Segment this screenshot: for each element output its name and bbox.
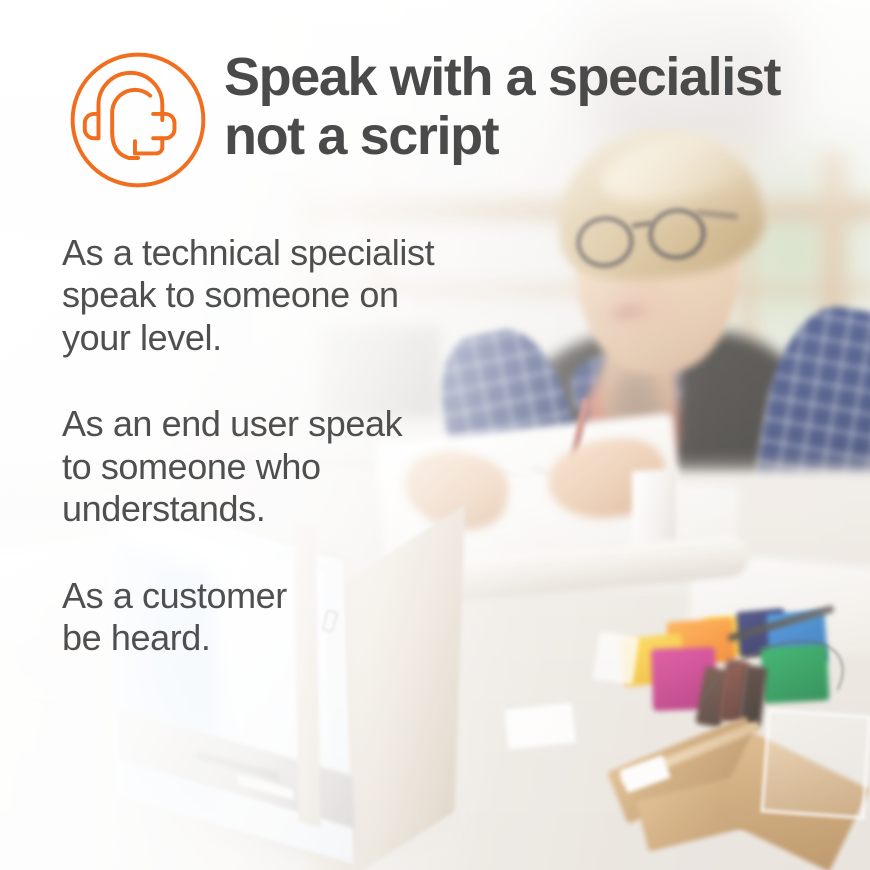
body-paragraph-technical-specialist: As a technical specialist speak to someo… — [62, 232, 482, 359]
body-line: speak to someone on — [62, 274, 482, 316]
icon-earcup-left — [85, 114, 99, 138]
icon-microphone-boom — [135, 138, 162, 153]
body-line: As an end user speak — [62, 403, 482, 445]
headline-line-2: not a script — [224, 107, 844, 166]
body-paragraph-end-user: As an end user speak to someone who unde… — [62, 403, 482, 530]
body-line: your level. — [62, 317, 482, 359]
body-line: understands. — [62, 488, 482, 530]
headline-line-1: Speak with a specialist — [224, 48, 844, 107]
body-line: be heard. — [62, 617, 482, 659]
body-copy: As a technical specialist speak to someo… — [62, 232, 482, 660]
poster-content: Speak with a specialist not a script As … — [0, 0, 870, 870]
body-line: to someone who — [62, 446, 482, 488]
headline: Speak with a specialist not a script — [224, 48, 844, 166]
marketing-poster: Speak with a specialist not a script As … — [0, 0, 870, 870]
body-line: As a technical specialist — [62, 232, 482, 274]
headset-support-agent-icon — [62, 44, 214, 196]
body-line: As a customer — [62, 575, 482, 617]
body-paragraph-customer: As a customer be heard. — [62, 575, 482, 660]
icon-head-crown — [112, 90, 150, 132]
